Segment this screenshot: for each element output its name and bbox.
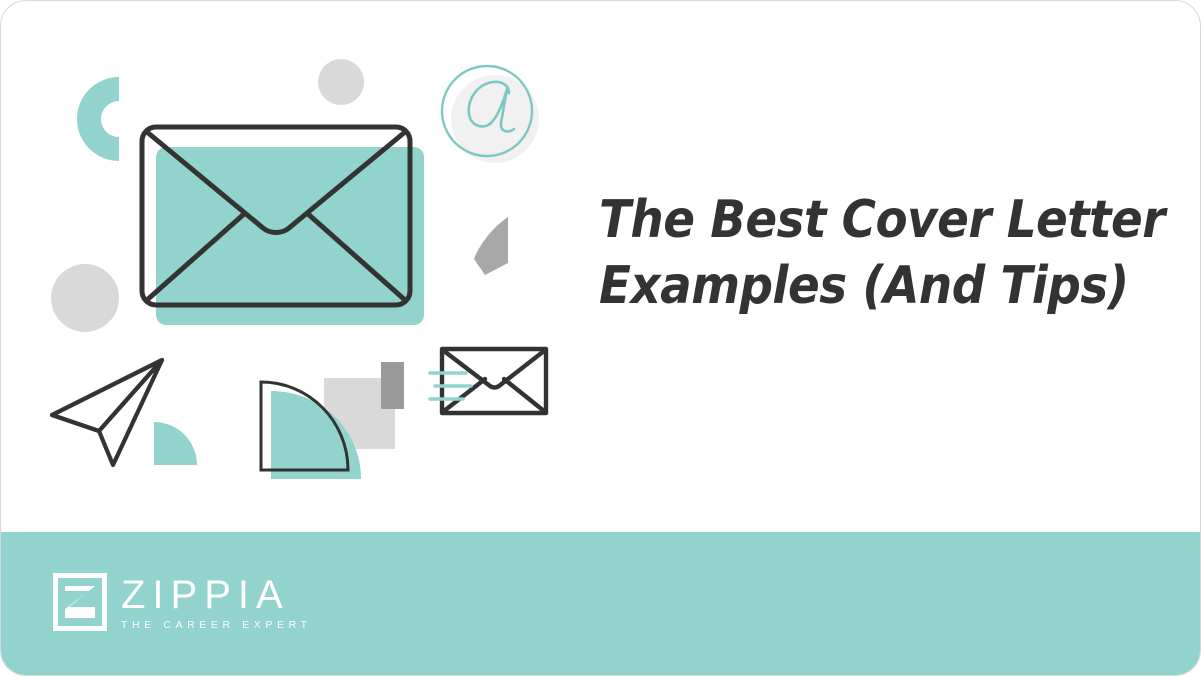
gray-petal-wedge bbox=[474, 217, 508, 275]
page-title: The Best Cover Letter Examples (And Tips… bbox=[599, 187, 1174, 319]
banner-card: The Best Cover Letter Examples (And Tips… bbox=[0, 0, 1201, 676]
paper-plane-icon bbox=[52, 360, 162, 465]
zippia-tagline: THE CAREER EXPERT bbox=[121, 618, 311, 632]
zippia-logo[interactable]: ZIPPIA THE CAREER EXPERT bbox=[53, 571, 313, 639]
page-title-line-1: The Best Cover Letter bbox=[599, 187, 1174, 253]
cover-letter-email-illustration bbox=[1, 1, 601, 532]
small-envelope-icon bbox=[442, 349, 546, 413]
zippia-wordmark: ZIPPIA bbox=[121, 575, 311, 615]
gray-circle-small bbox=[318, 59, 364, 105]
teal-quarter-arc bbox=[154, 422, 197, 465]
page-title-line-2: Examples (And Tips) bbox=[599, 253, 1174, 319]
teal-c-arc bbox=[89, 89, 119, 149]
gray-circle-large bbox=[51, 264, 119, 332]
main-envelope-icon bbox=[142, 127, 424, 325]
zippia-z-mark-icon bbox=[53, 573, 107, 631]
zippia-logo-text: ZIPPIA THE CAREER EXPERT bbox=[121, 575, 311, 632]
at-symbol-icon bbox=[442, 66, 539, 163]
gray-rect-dark bbox=[381, 362, 404, 409]
